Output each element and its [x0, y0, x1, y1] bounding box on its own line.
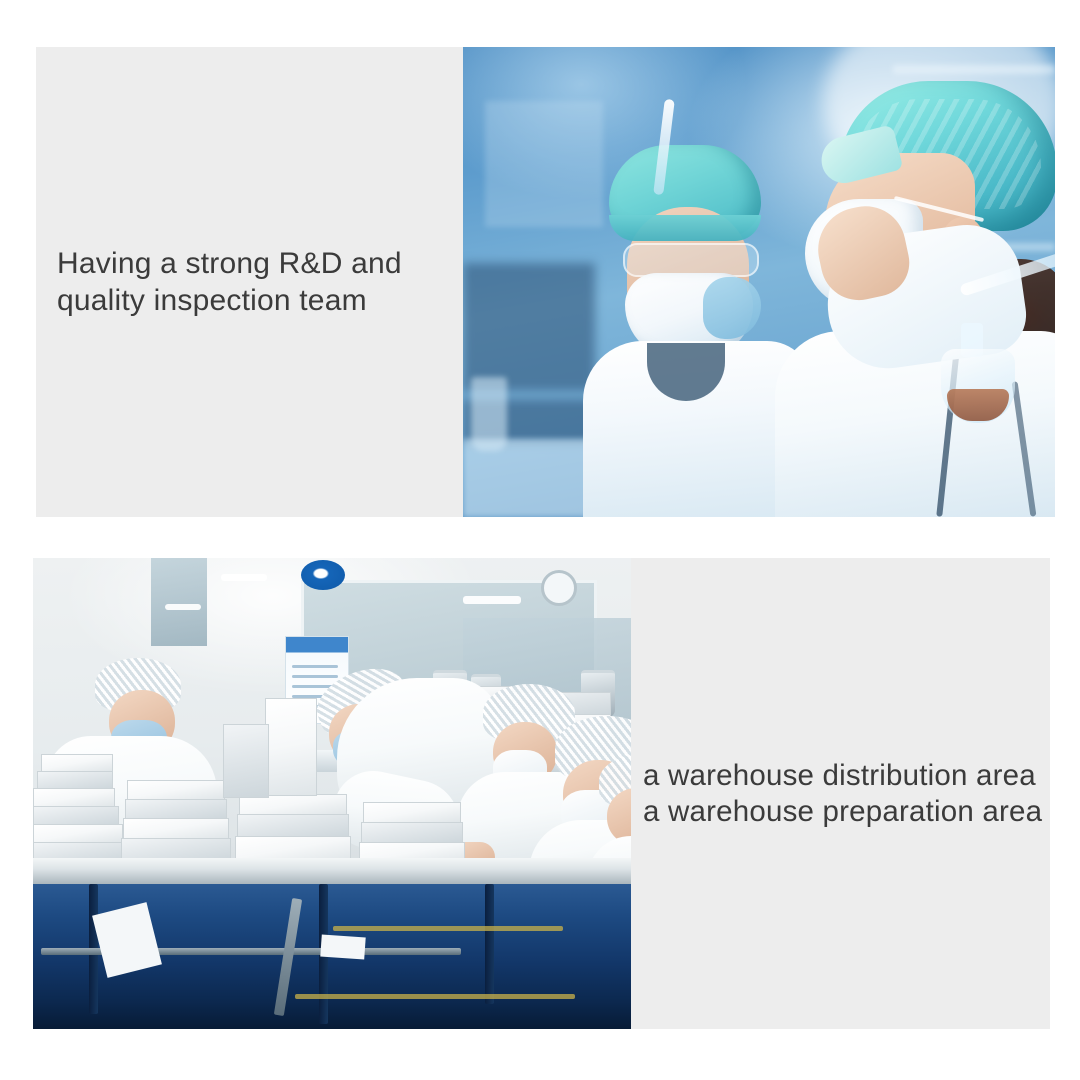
- warehouse-window-left: [151, 558, 207, 646]
- lab-worker-right: [785, 81, 1055, 517]
- caption-pane-warehouse: a warehouse distribution area a warehous…: [631, 558, 1050, 1029]
- safety-glasses-icon: [623, 243, 759, 277]
- page-root: Having a strong R&D and quality inspecti…: [0, 0, 1080, 1080]
- caption-warehouse: a warehouse distribution area a warehous…: [643, 758, 1050, 830]
- table-leg: [485, 884, 494, 1004]
- carton-foreground: [123, 818, 229, 840]
- section-rnd-quality: Having a strong R&D and quality inspecti…: [36, 47, 1055, 517]
- carton-foreground: [125, 799, 227, 820]
- carton-foreground: [363, 802, 461, 824]
- carton-foreground: [237, 814, 349, 838]
- carton-upright: [265, 698, 317, 796]
- carton-foreground: [33, 806, 119, 826]
- paper-sheet: [320, 934, 365, 959]
- flask-icon: [935, 317, 1021, 427]
- face-mask-side: [703, 277, 761, 339]
- photo-laboratory: [463, 47, 1055, 517]
- wall-clock-icon: [541, 570, 577, 606]
- ceiling-lamp-3: [165, 604, 201, 610]
- section-warehouse: a warehouse distribution area a warehous…: [33, 558, 1050, 1029]
- floor-marking: [333, 926, 563, 931]
- ceiling-lamp-1: [221, 574, 267, 581]
- safety-sign-icon: [301, 560, 345, 590]
- steel-table-top: [33, 858, 631, 884]
- surgical-cap-band: [609, 215, 761, 241]
- photo-warehouse: [33, 558, 631, 1029]
- caption-rnd-quality: Having a strong R&D and quality inspecti…: [57, 245, 463, 319]
- carton-foreground: [33, 788, 115, 808]
- caption-pane-rnd: Having a strong R&D and quality inspecti…: [36, 47, 463, 517]
- carton-foreground: [361, 822, 463, 844]
- floor-marking: [295, 994, 575, 999]
- carton-upright: [223, 724, 269, 798]
- carton-foreground: [33, 824, 123, 844]
- carton-foreground: [127, 780, 225, 801]
- lab-beaker: [471, 377, 507, 451]
- ceiling-lamp-2: [463, 596, 521, 604]
